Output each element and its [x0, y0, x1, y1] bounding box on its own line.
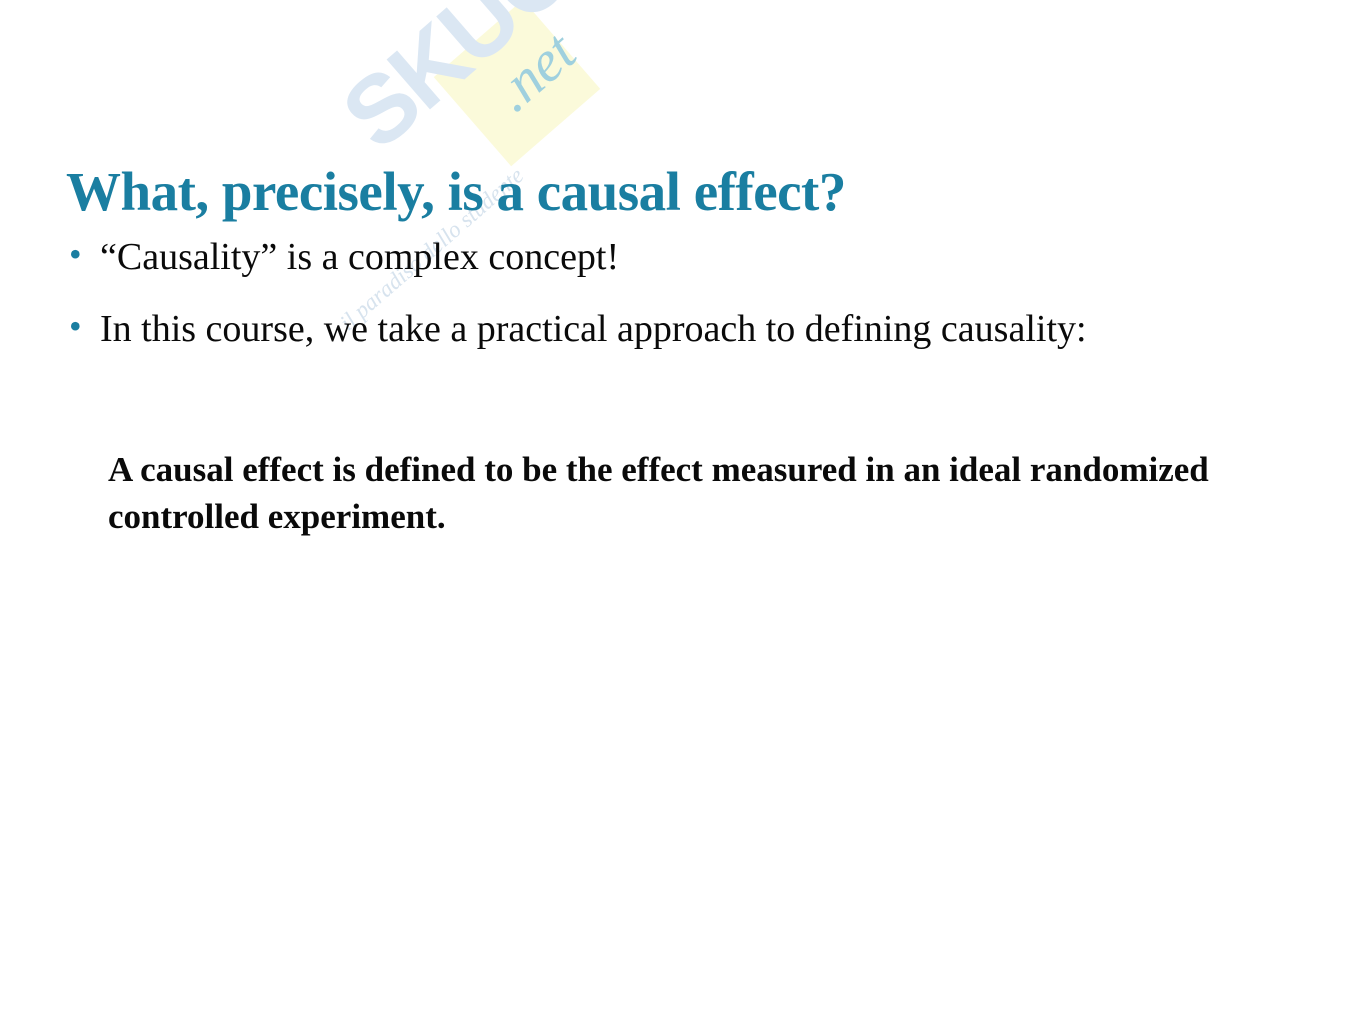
- presentation-slide: SKUOLA .net il paradiso dello studente W…: [0, 0, 1350, 1013]
- watermark-suffix-text: .net: [480, 18, 588, 125]
- list-item: • In this course, we take a practical ap…: [60, 308, 1310, 351]
- page-title: What, precisely, is a causal effect?: [66, 160, 846, 223]
- watermark-brand-text: SKUOLA: [322, 0, 686, 171]
- definition-paragraph: A causal effect is defined to be the eff…: [108, 447, 1288, 540]
- bullet-list: • “Causality” is a complex concept! • In…: [60, 236, 1310, 379]
- bullet-dot-icon: •: [60, 236, 100, 272]
- bullet-dot-icon: •: [60, 308, 100, 344]
- list-item-label: “Causality” is a complex concept!: [100, 236, 1310, 279]
- list-item: • “Causality” is a complex concept!: [60, 236, 1310, 279]
- watermark-sticky-note-icon: [434, 0, 600, 166]
- list-item-label: In this course, we take a practical appr…: [100, 308, 1310, 351]
